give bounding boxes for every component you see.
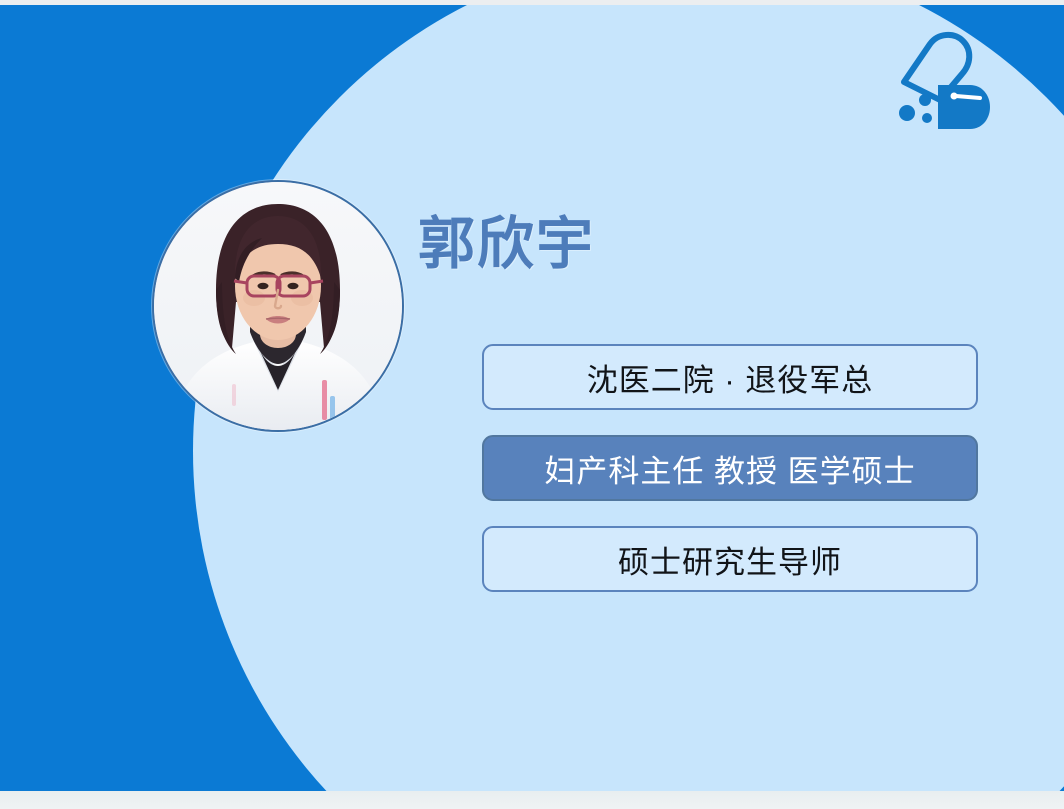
credential-label: 妇产科主任 教授 医学硕士	[544, 446, 915, 491]
avatar	[152, 180, 404, 432]
bottom-divider	[0, 791, 1064, 809]
page-title: 郭欣宇	[418, 216, 595, 273]
doctor-profile-card: 郭欣宇 沈医二院 · 退役军总 妇产科主任 教授 医学硕士 硕士研究生导师	[0, 0, 1064, 809]
credential-item-supervisor: 硕士研究生导师	[482, 526, 978, 592]
open-capsule-icon	[886, 30, 998, 142]
credential-label: 沈医二院 · 退役军总	[587, 355, 874, 400]
credential-list: 沈医二院 · 退役军总 妇产科主任 教授 医学硕士 硕士研究生导师	[482, 344, 978, 617]
credential-item-title: 妇产科主任 教授 医学硕士	[482, 435, 978, 501]
credential-label: 硕士研究生导师	[618, 537, 842, 582]
credential-item-hospital: 沈医二院 · 退役军总	[482, 344, 978, 410]
